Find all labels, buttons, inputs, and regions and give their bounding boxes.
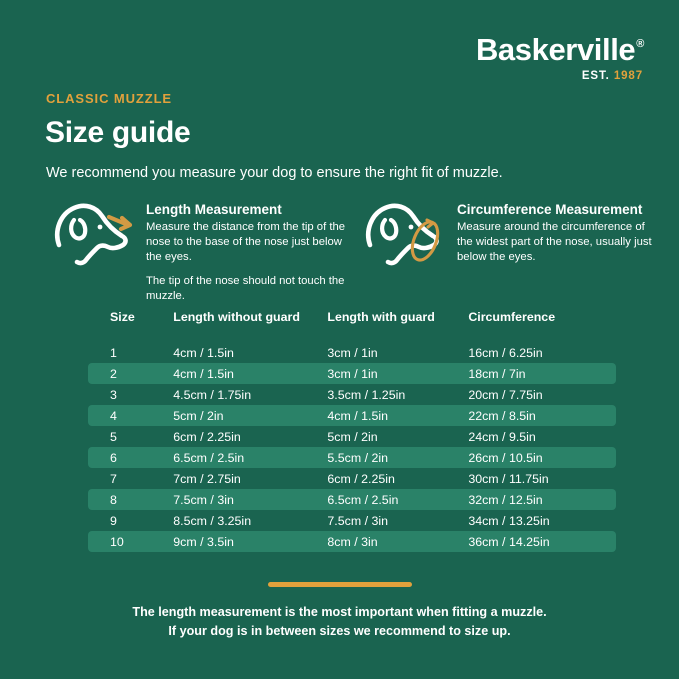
circumference-measurement-text-1: Measure around the circumference of the … xyxy=(457,220,663,265)
table-cell: 9cm / 3.5in xyxy=(173,531,327,552)
table-cell: 4.5cm / 1.75in xyxy=(173,384,327,405)
table-cell: 7.5cm / 3in xyxy=(327,510,468,531)
table-cell: 6.5cm / 2.5in xyxy=(327,489,468,510)
length-measurement-text-2: The tip of the nose should not touch the… xyxy=(146,274,352,304)
size-guide-page: Baskerville® EST. 1987 CLASSIC MUZZLE Si… xyxy=(0,0,679,679)
product-category-eyebrow: CLASSIC MUZZLE xyxy=(46,91,172,106)
table-cell: 5cm / 2in xyxy=(327,426,468,447)
table-cell: 8.5cm / 3.25in xyxy=(173,510,327,531)
brand-established: EST. 1987 xyxy=(476,71,643,83)
size-chart-table: Size Length without guard Length with gu… xyxy=(88,310,616,552)
table-row: 66.5cm / 2.5in5.5cm / 2in26cm / 10.5in xyxy=(88,447,616,468)
table-cell: 7cm / 2.75in xyxy=(173,468,327,489)
table-row: 24cm / 1.5in3cm / 1in18cm / 7in xyxy=(88,363,616,384)
brand-name: Baskerville® xyxy=(476,34,643,65)
brand-est-year: 1987 xyxy=(614,70,643,82)
brand-est-label: EST. xyxy=(582,70,610,82)
circumference-measurement-title: Circumference Measurement xyxy=(457,202,663,217)
table-cell: 24cm / 9.5in xyxy=(468,426,616,447)
table-cell: 3cm / 1in xyxy=(327,342,468,363)
circumference-measurement-body: Circumference Measurement Measure around… xyxy=(457,198,663,265)
length-measurement-block: Length Measurement Measure the distance … xyxy=(52,198,352,304)
table-header-row: Size Length without guard Length with gu… xyxy=(88,310,616,342)
table-cell: 4cm / 1.5in xyxy=(173,342,327,363)
table-cell: 8 xyxy=(88,489,173,510)
table-cell: 3 xyxy=(88,384,173,405)
table-cell: 6.5cm / 2.5in xyxy=(173,447,327,468)
table-cell: 7.5cm / 3in xyxy=(173,489,327,510)
table-cell: 26cm / 10.5in xyxy=(468,447,616,468)
column-header-length-without-guard: Length without guard xyxy=(173,310,327,342)
size-chart-body: 14cm / 1.5in3cm / 1in16cm / 6.25in24cm /… xyxy=(88,342,616,552)
brand-name-text: Baskerville xyxy=(476,32,635,67)
table-cell: 6 xyxy=(88,447,173,468)
table-cell: 1 xyxy=(88,342,173,363)
footer-line-2: If your dog is in between sizes we recom… xyxy=(0,622,679,641)
table-cell: 6cm / 2.25in xyxy=(327,468,468,489)
table-cell: 36cm / 14.25in xyxy=(468,531,616,552)
table-cell: 3.5cm / 1.25in xyxy=(327,384,468,405)
brand-logo: Baskerville® EST. 1987 xyxy=(476,34,643,83)
column-header-length-with-guard: Length with guard xyxy=(327,310,468,342)
table-row: 45cm / 2in4cm / 1.5in22cm / 8.5in xyxy=(88,405,616,426)
size-chart-head: Size Length without guard Length with gu… xyxy=(88,310,616,342)
table-cell: 5.5cm / 2in xyxy=(327,447,468,468)
column-header-circumference: Circumference xyxy=(468,310,616,342)
table-row: 34.5cm / 1.75in3.5cm / 1.25in20cm / 7.75… xyxy=(88,384,616,405)
table-cell: 32cm / 12.5in xyxy=(468,489,616,510)
table-cell: 2 xyxy=(88,363,173,384)
table-row: 98.5cm / 3.25in7.5cm / 3in34cm / 13.25in xyxy=(88,510,616,531)
dog-head-length-arrow-icon xyxy=(52,198,140,270)
page-title: Size guide xyxy=(45,116,190,150)
table-cell: 4cm / 1.5in xyxy=(327,405,468,426)
length-measurement-title: Length Measurement xyxy=(146,202,352,217)
table-cell: 34cm / 13.25in xyxy=(468,510,616,531)
table-cell: 20cm / 7.75in xyxy=(468,384,616,405)
table-cell: 4cm / 1.5in xyxy=(173,363,327,384)
table-row: 87.5cm / 3in6.5cm / 2.5in32cm / 12.5in xyxy=(88,489,616,510)
table-cell: 8cm / 3in xyxy=(327,531,468,552)
table-cell: 3cm / 1in xyxy=(327,363,468,384)
table-cell: 18cm / 7in xyxy=(468,363,616,384)
footer-note: The length measurement is the most impor… xyxy=(0,603,679,641)
registered-trademark-icon: ® xyxy=(636,38,644,50)
column-header-size: Size xyxy=(88,310,173,342)
table-row: 109cm / 3.5in8cm / 3in36cm / 14.25in xyxy=(88,531,616,552)
table-row: 77cm / 2.75in6cm / 2.25in30cm / 11.75in xyxy=(88,468,616,489)
gold-divider xyxy=(268,582,412,587)
table-cell: 9 xyxy=(88,510,173,531)
table-cell: 7 xyxy=(88,468,173,489)
table-cell: 6cm / 2.25in xyxy=(173,426,327,447)
table-cell: 30cm / 11.75in xyxy=(468,468,616,489)
footer-line-1: The length measurement is the most impor… xyxy=(0,603,679,622)
length-measurement-body: Length Measurement Measure the distance … xyxy=(146,198,352,304)
table-row: 14cm / 1.5in3cm / 1in16cm / 6.25in xyxy=(88,342,616,363)
table-cell: 5cm / 2in xyxy=(173,405,327,426)
table-cell: 10 xyxy=(88,531,173,552)
table-cell: 22cm / 8.5in xyxy=(468,405,616,426)
table-cell: 5 xyxy=(88,426,173,447)
dog-head-circumference-loop-icon xyxy=(363,198,451,270)
length-measurement-text-1: Measure the distance from the tip of the… xyxy=(146,220,352,265)
page-subtitle: We recommend you measure your dog to ens… xyxy=(46,165,503,181)
table-row: 56cm / 2.25in5cm / 2in24cm / 9.5in xyxy=(88,426,616,447)
table-cell: 4 xyxy=(88,405,173,426)
circumference-measurement-block: Circumference Measurement Measure around… xyxy=(363,198,663,270)
table-cell: 16cm / 6.25in xyxy=(468,342,616,363)
